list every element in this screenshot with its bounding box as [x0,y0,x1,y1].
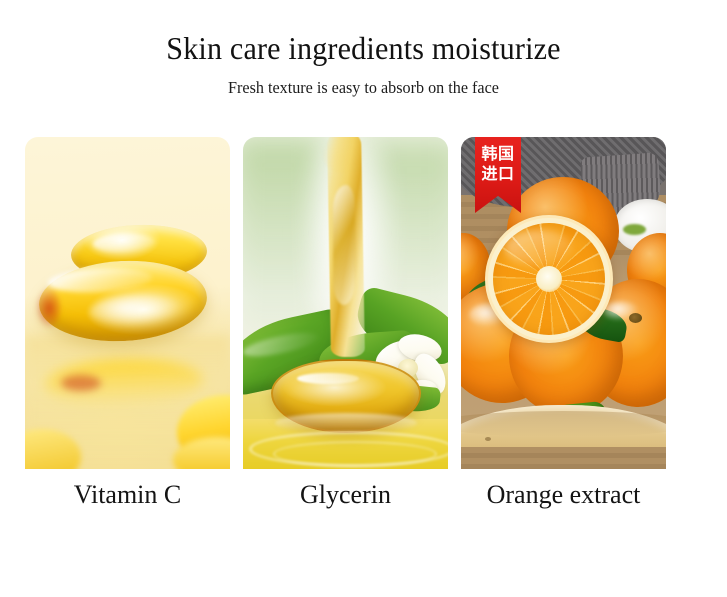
capsule-reflection-red [61,375,101,391]
page-subtitle: Fresh texture is easy to absorb on the f… [18,68,709,99]
page-title: Skin care ingredients moisturize [22,0,705,68]
droplet-highlight [297,373,359,384]
basket-inner-rim [461,411,666,437]
orange-half-highlight [505,230,572,266]
oil-ripple-inner [273,441,437,467]
basket-speck [485,437,491,441]
droplet-rim [275,413,417,433]
ingredient-panels: 韩国 进口 [0,137,727,469]
oil-stream-twist [333,185,355,305]
badge-line-2: 进口 [475,164,521,184]
caption-vitamin-c: Vitamin C [25,478,230,512]
ingredient-card-orange-extract[interactable]: 韩国 进口 [461,137,666,469]
badge-line-1: 韩国 [475,137,521,164]
orange-stem-nub [629,313,642,323]
orange-core [536,266,562,292]
header: Skin care ingredients moisturize Fresh t… [0,0,727,99]
table-foreground [461,447,666,469]
orange-extract-image: 韩国 进口 [461,137,666,469]
glycerin-image [243,137,448,469]
caption-glycerin: Glycerin [243,478,448,512]
caption-orange-extract: Orange extract [455,478,672,512]
vitamin-c-image [25,137,230,469]
product-ingredients-banner: Skin care ingredients moisturize Fresh t… [0,0,727,597]
ingredient-captions: Vitamin C Glycerin Orange extract [0,478,727,520]
orange-half-cut [485,215,613,343]
ingredient-card-vitamin-c[interactable] [25,137,230,469]
capsule-red-glow [35,287,61,329]
ingredient-card-glycerin[interactable] [243,137,448,469]
